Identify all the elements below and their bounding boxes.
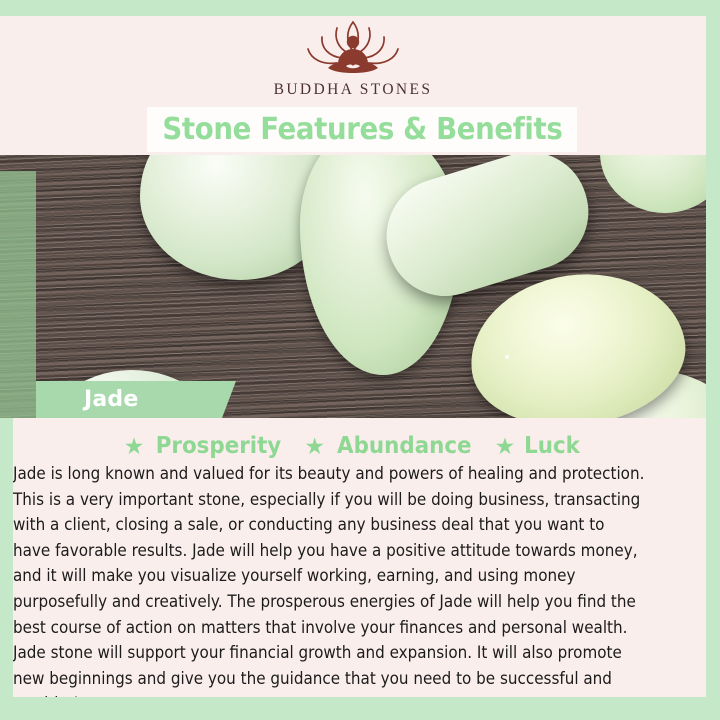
stone-name-label: Jade [84,387,139,412]
benefit-label: Prosperity [156,433,282,459]
stone-description: Jade is long known and valued for its be… [13,461,646,717]
lotus-meditation-icon [294,18,412,80]
benefits-row: ★ Prosperity ★ Abundance ★ Luck [0,430,706,462]
highlight-dot [505,355,509,359]
benefit-label: Abundance [337,433,471,459]
section-title-band: Stone Features & Benefits [147,107,577,152]
stone-photo [0,155,706,418]
stone-name-banner: Jade [36,381,222,418]
brand-logo: BUDDHA STONES [0,16,706,106]
benefit-item-abundance: ★ Abundance [304,433,476,459]
star-icon: ★ [124,435,145,458]
infographic-page: BUDDHA STONES Stone Features & Benefits … [0,0,720,720]
benefit-item-prosperity: ★ Prosperity [124,433,287,459]
page-title: Stone Features & Benefits [162,112,562,147]
frame-top-edge [0,0,720,16]
brand-name: BUDDHA STONES [274,81,433,99]
star-icon: ★ [304,435,325,458]
star-icon: ★ [495,435,516,458]
benefit-label: Luck [524,433,580,459]
frame-right-edge [706,0,720,720]
frame-left-edge [0,418,13,720]
frame-bottom-edge [0,697,720,720]
photo-left-accent-strip [0,171,36,418]
benefit-item-luck: ★ Luck [495,433,583,459]
